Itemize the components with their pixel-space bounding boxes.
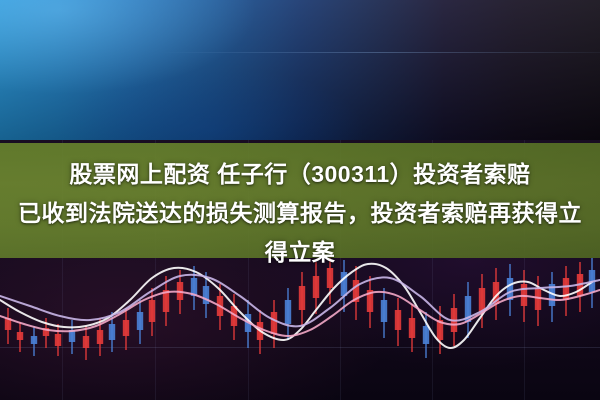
candle-body (17, 332, 23, 340)
candle-body (423, 326, 429, 344)
candle-body (97, 330, 103, 344)
candle-body (55, 334, 61, 346)
candle-body (479, 288, 485, 312)
candle-body (395, 310, 401, 330)
candle-body (327, 268, 333, 288)
candlestick-series (5, 256, 595, 360)
candle-body (409, 318, 415, 338)
candle-body (299, 286, 305, 310)
candle-body (31, 336, 37, 344)
candle-body (123, 320, 129, 336)
candle-body (149, 300, 155, 322)
headline-band (0, 143, 600, 258)
candle-body (381, 300, 387, 322)
candle-body (137, 312, 143, 330)
candle-body (285, 300, 291, 324)
candle-body (83, 336, 89, 348)
news-banner: 股票网上配资 任子行（300311）投资者索赔 已收到法院送达的损失测算报告，投… (0, 0, 600, 400)
candle-body (313, 276, 319, 298)
candle-body (109, 324, 115, 340)
candle-body (271, 312, 277, 334)
